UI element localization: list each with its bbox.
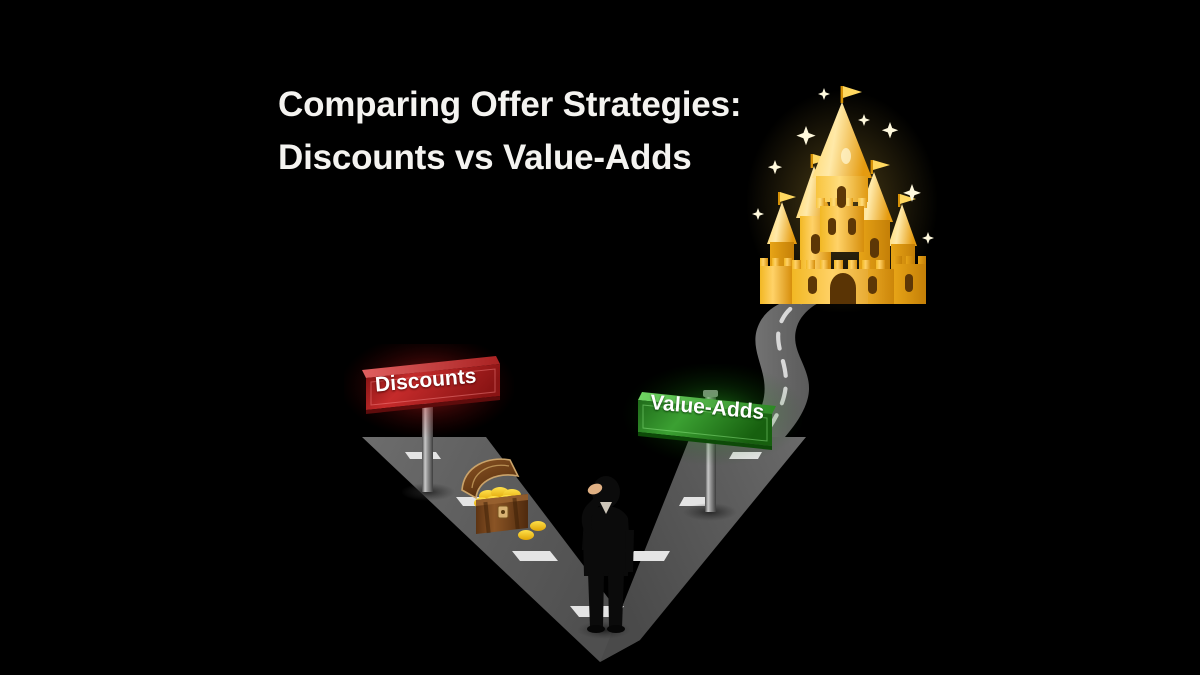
title-line-1: Comparing Offer Strategies: (278, 78, 798, 131)
castle-base-wall (760, 256, 926, 304)
title-line-2: Discounts vs Value-Adds (278, 131, 798, 184)
page-title: Comparing Offer Strategies: Discounts vs… (278, 78, 798, 184)
slide-canvas: Discounts (0, 0, 1200, 675)
sign-value-adds[interactable]: Value-Adds (622, 364, 802, 534)
sign-discounts-svg (344, 344, 514, 524)
sign-discounts[interactable]: Discounts (344, 344, 514, 524)
sign-value-adds-svg (622, 364, 802, 534)
